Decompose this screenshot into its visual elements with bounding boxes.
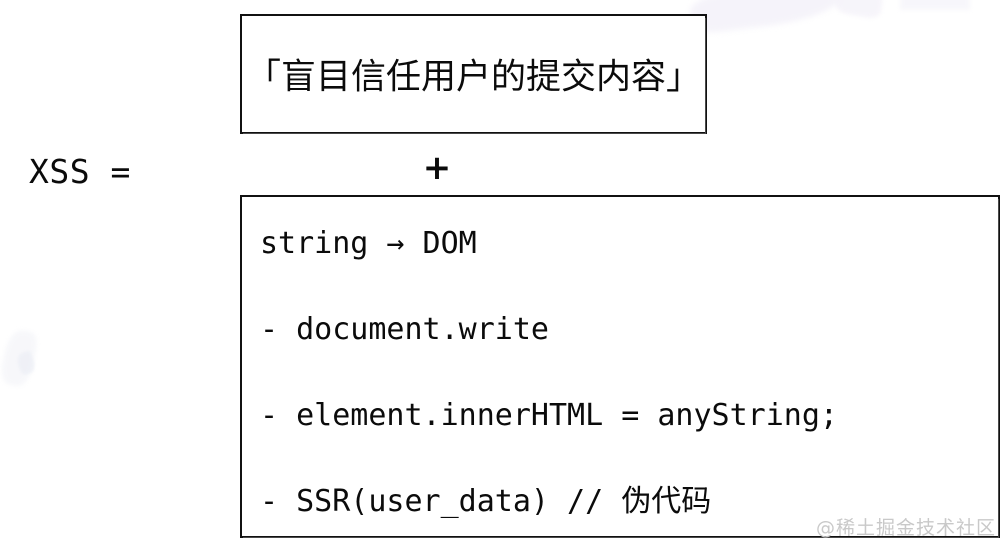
sink-list-item: - SSR(user_data) // 伪代码 (260, 481, 998, 523)
xss-equation-label: XSS = (29, 152, 131, 192)
plus-operator: + (420, 148, 454, 188)
condition-box-text: 「盲目信任用户的提交内容」 (242, 49, 705, 100)
sink-list-item: - element.innerHTML = anyString; (260, 395, 998, 437)
background-artifact (834, 0, 884, 20)
background-artifact (900, 0, 970, 10)
sink-list-item: - document.write (260, 309, 998, 351)
background-artifact (688, 0, 842, 35)
condition-box: 「盲目信任用户的提交内容」 (240, 14, 707, 134)
sink-box: string → DOM - document.write - element.… (240, 195, 1000, 538)
background-artifact (0, 327, 39, 388)
slide-canvas: XSS = 「盲目信任用户的提交内容」 + string → DOM - doc… (0, 0, 1008, 548)
sink-code-block: string → DOM - document.write - element.… (242, 197, 998, 536)
sink-heading: string → DOM (260, 223, 998, 265)
background-artifact (15, 350, 37, 376)
